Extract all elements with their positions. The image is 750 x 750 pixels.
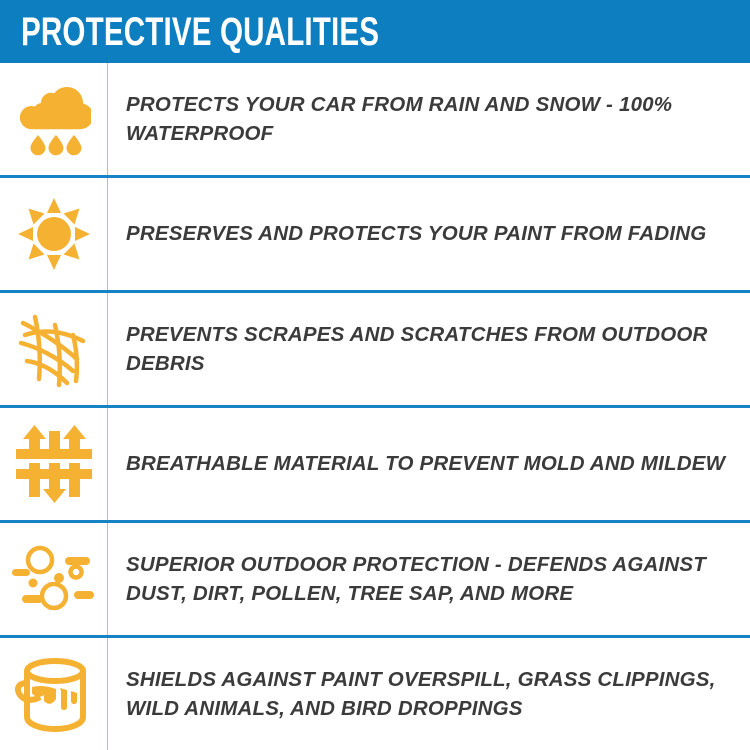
rain-cloud-icon (17, 81, 91, 157)
feature-row: SHIELDS AGAINST PAINT OVERSPILL, GRASS C… (0, 635, 750, 750)
text-cell: SHIELDS AGAINST PAINT OVERSPILL, GRASS C… (108, 665, 750, 723)
text-cell: PRESERVES AND PROTECTS YOUR PAINT FROM F… (108, 219, 750, 248)
feature-text: BREATHABLE MATERIAL TO PREVENT MOLD AND … (126, 449, 725, 478)
text-cell: SUPERIOR OUTDOOR PROTECTION - DEFENDS AG… (108, 550, 750, 608)
feature-text: PROTECTS YOUR CAR FROM RAIN AND SNOW - 1… (126, 90, 736, 148)
feature-text: PREVENTS SCRAPES AND SCRATCHES FROM OUTD… (126, 320, 736, 378)
feature-row: BREATHABLE MATERIAL TO PREVENT MOLD AND … (0, 405, 750, 520)
sun-icon (16, 196, 92, 272)
scratch-mesh-icon (15, 309, 93, 389)
text-cell: PREVENTS SCRAPES AND SCRATCHES FROM OUTD… (108, 320, 750, 378)
feature-row: PRESERVES AND PROTECTS YOUR PAINT FROM F… (0, 175, 750, 290)
icon-cell (0, 178, 108, 290)
icon-cell (0, 408, 108, 520)
feature-row: PREVENTS SCRAPES AND SCRATCHES FROM OUTD… (0, 290, 750, 405)
feature-text: SHIELDS AGAINST PAINT OVERSPILL, GRASS C… (126, 665, 736, 723)
icon-cell (0, 293, 108, 405)
protective-qualities-infographic: PROTECTIVE QUALITIES PROTECTS YOUR CAR F… (0, 0, 750, 750)
paint-can-icon (14, 655, 94, 733)
icon-cell (0, 63, 108, 175)
text-cell: BREATHABLE MATERIAL TO PREVENT MOLD AND … (108, 449, 750, 478)
text-cell: PROTECTS YOUR CAR FROM RAIN AND SNOW - 1… (108, 90, 750, 148)
feature-text: PRESERVES AND PROTECTS YOUR PAINT FROM F… (126, 219, 706, 248)
feature-text: SUPERIOR OUTDOOR PROTECTION - DEFENDS AG… (126, 550, 736, 608)
dust-particles-icon (12, 543, 96, 615)
icon-cell (0, 523, 108, 635)
header-band: PROTECTIVE QUALITIES (0, 0, 750, 63)
airflow-arrows-icon (16, 425, 92, 503)
icon-cell (0, 638, 108, 750)
feature-row: PROTECTS YOUR CAR FROM RAIN AND SNOW - 1… (0, 63, 750, 175)
page-title: PROTECTIVE QUALITIES (21, 12, 379, 52)
feature-list: PROTECTS YOUR CAR FROM RAIN AND SNOW - 1… (0, 63, 750, 750)
feature-row: SUPERIOR OUTDOOR PROTECTION - DEFENDS AG… (0, 520, 750, 635)
